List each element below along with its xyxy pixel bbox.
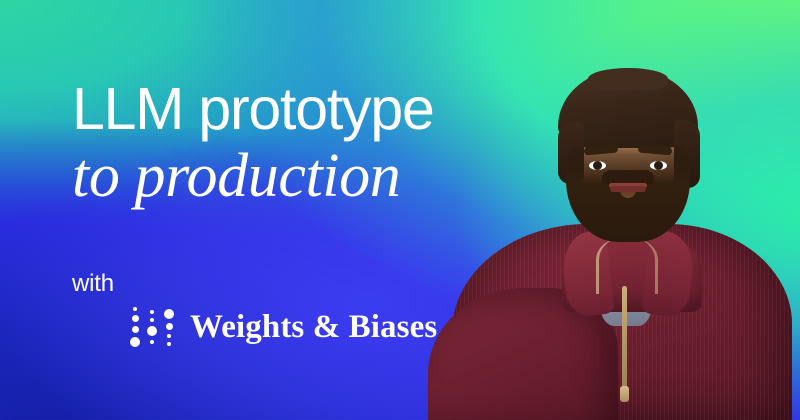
headline-line-2: to production — [72, 143, 552, 209]
logo-dot — [150, 340, 154, 344]
banner-content: LLM prototype to production with — [72, 0, 552, 420]
logo-dot-column-1 — [130, 305, 140, 349]
logo-dot — [150, 310, 154, 314]
weights-and-biases-wordmark: Weights & Biases — [190, 309, 437, 345]
logo-dot — [130, 337, 140, 347]
mouth — [610, 186, 646, 192]
collar-trim — [596, 238, 658, 294]
logo-dot — [132, 315, 139, 322]
promo-banner: LLM prototype to production with — [0, 0, 800, 420]
zipper-pull — [620, 386, 629, 402]
pupil-left — [593, 161, 602, 170]
logo-dot — [167, 342, 171, 346]
with-label: with — [72, 270, 532, 298]
logo-dot-column-2 — [147, 305, 157, 349]
hair-top-tuft — [588, 68, 668, 90]
logo-dot — [167, 334, 171, 338]
logo-dot — [132, 326, 139, 333]
logo-dot — [133, 307, 137, 311]
brand-logo-row: Weights & Biases — [130, 305, 532, 349]
pupil-right — [654, 161, 663, 170]
logo-dot — [164, 309, 174, 319]
logo-dot — [150, 318, 154, 322]
logo-dot-column-3 — [164, 305, 174, 349]
logo-dot — [147, 326, 157, 336]
headline: LLM prototype to production — [72, 78, 552, 209]
headline-line-1: LLM prototype — [72, 78, 552, 140]
logo-dot — [166, 323, 173, 330]
mustache — [602, 170, 654, 184]
zipper-tape — [622, 286, 627, 394]
brand-lockup: with — [72, 270, 532, 349]
weights-and-biases-dots-icon — [130, 305, 174, 349]
